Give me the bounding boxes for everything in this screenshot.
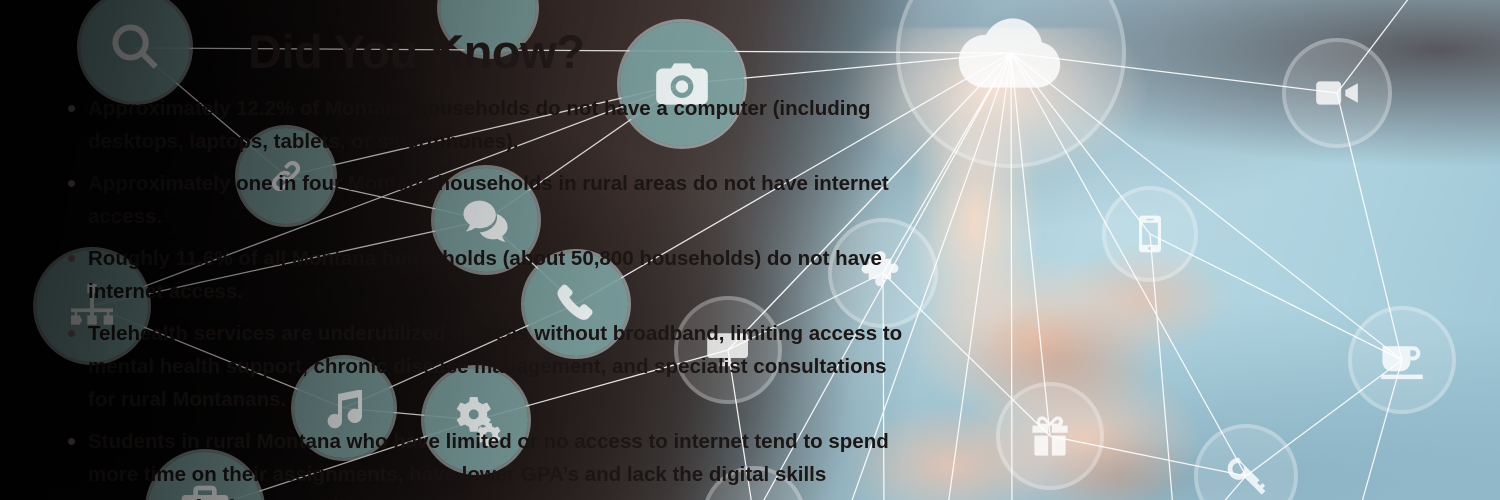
list-item: Roughly 11.6% of all Montana households … xyxy=(88,242,918,308)
infographic-banner: Did You Know? Approximately 12.2% of Mon… xyxy=(0,0,1500,500)
list-item: Students in rural Montana who have limit… xyxy=(88,425,918,500)
list-item: Approximately one in four Montana househ… xyxy=(88,167,918,233)
mobile-icon[interactable] xyxy=(1106,190,1194,278)
list-item: Approximately 12.2% of Montana household… xyxy=(88,92,918,158)
video-icon[interactable] xyxy=(1286,42,1388,144)
facts-list: Approximately 12.2% of Montana household… xyxy=(62,92,918,500)
gift-icon[interactable] xyxy=(1000,386,1100,486)
copy-block: Did You Know? Approximately 12.2% of Mon… xyxy=(0,0,950,500)
coffee-icon[interactable] xyxy=(1352,310,1452,410)
page-title: Did You Know? xyxy=(248,28,584,75)
list-item: Telehealth services are underutilized in… xyxy=(88,317,918,416)
